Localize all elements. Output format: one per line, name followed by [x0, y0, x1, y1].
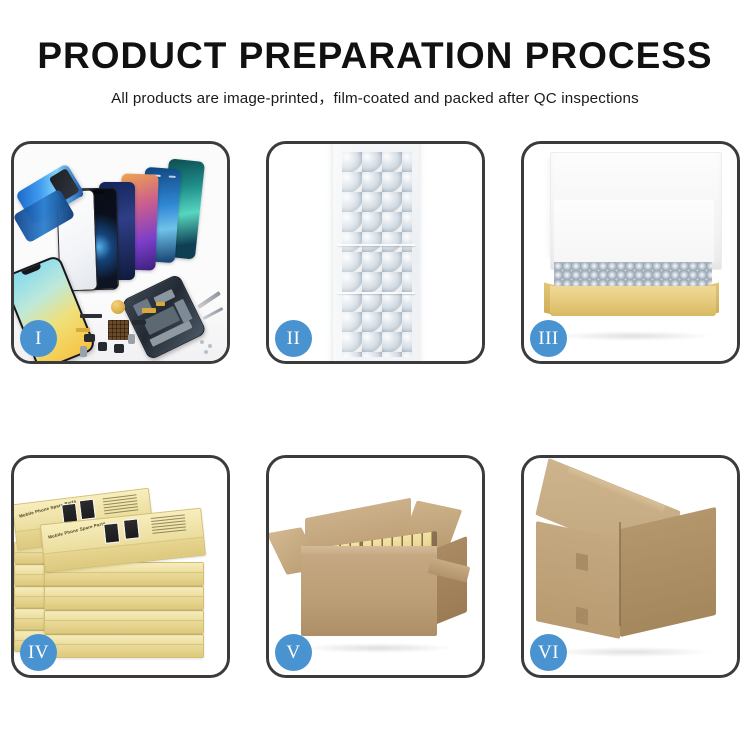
box-spec-lines: [151, 514, 187, 535]
step-panel-2: II: [266, 141, 485, 364]
carton-right-face: [620, 507, 716, 637]
spare-part-connector: [132, 320, 146, 325]
step-panel-5: V: [266, 455, 485, 678]
page-subtitle: All products are image-printed，film-coat…: [0, 77, 750, 108]
foam-padding: [554, 200, 714, 262]
step-panel-3: III: [521, 141, 740, 364]
scene-sealed-shipping-carton: VI: [524, 458, 737, 675]
box-top-face: [45, 635, 203, 645]
scene-stacked-retail-boxes: Mobile Phone Spare Parts: [14, 458, 227, 675]
scene-foam-lined-inner-box: III: [524, 144, 737, 361]
spare-part-flex-cable: [156, 302, 165, 306]
scene-bubble-wrap-pouch: II: [269, 144, 482, 361]
step-badge-3: III: [530, 320, 567, 357]
step-panel-1: I: [11, 141, 230, 364]
step-badge-4: IV: [20, 634, 57, 671]
product-preparation-infographic: PRODUCT PREPARATION PROCESS All products…: [0, 0, 750, 750]
spare-part-chip-array: [108, 320, 129, 340]
scene-open-shipping-carton: V: [269, 458, 482, 675]
kraft-box-front: [550, 286, 716, 316]
bubble-wrap-pouch: [333, 144, 419, 361]
drop-shadow: [550, 647, 710, 657]
box-top-face: [45, 611, 203, 621]
spare-part-speaker: [114, 344, 124, 353]
drop-shadow: [554, 331, 714, 341]
spare-part-ribbon: [80, 314, 102, 318]
spare-part-screw: [208, 344, 212, 348]
header: PRODUCT PREPARATION PROCESS All products…: [0, 0, 750, 108]
spare-part-sim-tray: [80, 346, 87, 357]
spare-part-screw: [200, 340, 204, 344]
step-badge-2: II: [275, 320, 312, 357]
packing-tape-tab: [576, 607, 588, 626]
box-artwork-phone: [103, 522, 120, 543]
carton-front-face: [301, 554, 437, 636]
box-artwork-phone: [79, 499, 96, 521]
plastic-glare: [333, 144, 361, 361]
step-badge-6: VI: [530, 634, 567, 671]
step-badge-5: V: [275, 634, 312, 671]
page-title: PRODUCT PREPARATION PROCESS: [0, 0, 750, 77]
spare-part-button: [128, 334, 135, 344]
drop-shadow: [303, 643, 453, 653]
spare-part-flex-cable: [142, 308, 156, 313]
box-artwork-phone: [123, 518, 140, 539]
spare-part-flex-cable: [76, 328, 90, 332]
steps-grid: I II: [11, 141, 741, 678]
step-badge-1: I: [20, 320, 57, 357]
step-panel-4: Mobile Phone Spare Parts: [11, 455, 230, 678]
spare-part-screw: [204, 350, 208, 354]
step-panel-6: VI: [521, 455, 740, 678]
spare-part-module: [98, 342, 107, 351]
retail-box: [44, 586, 204, 610]
packing-tape-tab: [576, 553, 588, 572]
retail-box: [44, 634, 204, 658]
retail-box: [44, 610, 204, 634]
phone-notch: [21, 264, 41, 276]
box-top-face: [45, 587, 203, 597]
spare-part-camera-ring: [111, 300, 125, 314]
spare-part-module: [84, 334, 95, 342]
bubble-wrapped-contents: [554, 262, 712, 288]
carton-corner-edge: [619, 522, 621, 626]
scene-products-and-parts: I: [14, 144, 227, 361]
